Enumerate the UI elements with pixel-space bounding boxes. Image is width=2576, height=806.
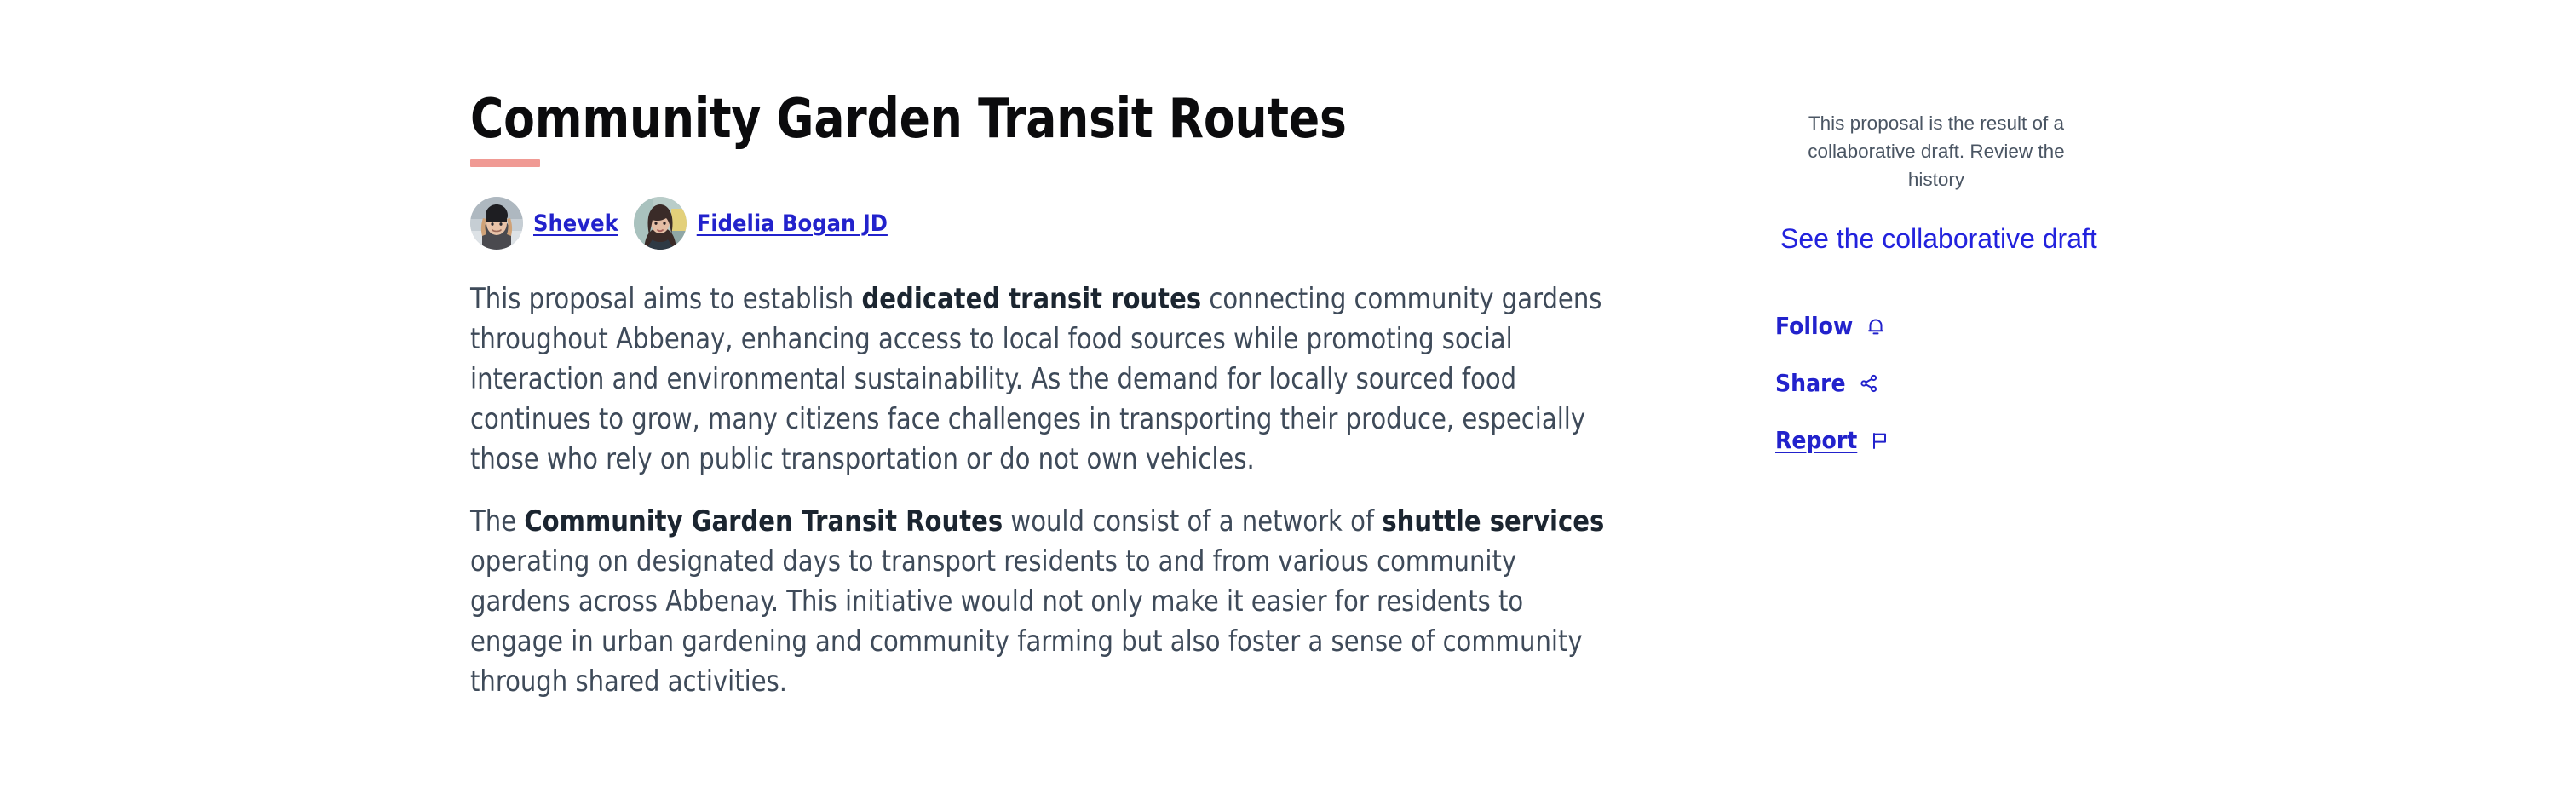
sidebar-actions: Follow Share [1774,314,2114,453]
emphasis-text: shuttle services [1382,504,1604,538]
see-collaborative-draft-link[interactable]: See the collaborative draft [1780,224,2092,254]
emphasis-text: Community Garden Transit Routes [524,504,1003,538]
author-link[interactable]: Shevek [533,212,618,235]
page-title: Community Garden Transit Routes [470,0,1596,147]
emphasis-text: dedicated transit routes [861,282,1201,315]
article-page: Community Garden Transit Routes [0,0,2576,806]
author-link[interactable]: Fidelia Bogan JD [697,212,888,235]
body-text: would consist of a network of [1003,504,1382,538]
article-column: Community Garden Transit Routes [470,0,1680,723]
byline: Shevek [470,197,1680,250]
flag-icon [1868,429,1892,452]
report-label: Report [1775,429,1857,452]
body-text: This proposal aims to establish [470,282,861,315]
collaborative-draft-note: This proposal is the result of a collabo… [1780,109,2092,193]
share-button[interactable]: Share [1775,371,1881,396]
article-body: This proposal aims to establish dedicate… [470,279,1663,701]
body-text: operating on designated days to transpor… [470,544,1583,698]
report-button[interactable]: Report [1775,428,1892,453]
paragraph: This proposal aims to establish dedicate… [470,279,1621,479]
author-shevek: Shevek [470,197,618,250]
share-label: Share [1775,371,1846,395]
paragraph: The Community Garden Transit Routes woul… [470,501,1621,701]
sidebar: This proposal is the result of a collabo… [1774,0,2114,485]
avatar-photo-dark-hair [634,197,687,250]
follow-label: Follow [1775,314,1853,338]
avatar-photo-beanie [470,197,523,250]
body-text: The [470,504,524,538]
title-accent-rule [470,159,540,167]
follow-button[interactable]: Follow [1775,314,1888,339]
share-nodes-icon [1857,371,1881,395]
author-fidelia-bogan-jd: Fidelia Bogan JD [634,197,888,250]
bell-icon [1864,314,1888,338]
